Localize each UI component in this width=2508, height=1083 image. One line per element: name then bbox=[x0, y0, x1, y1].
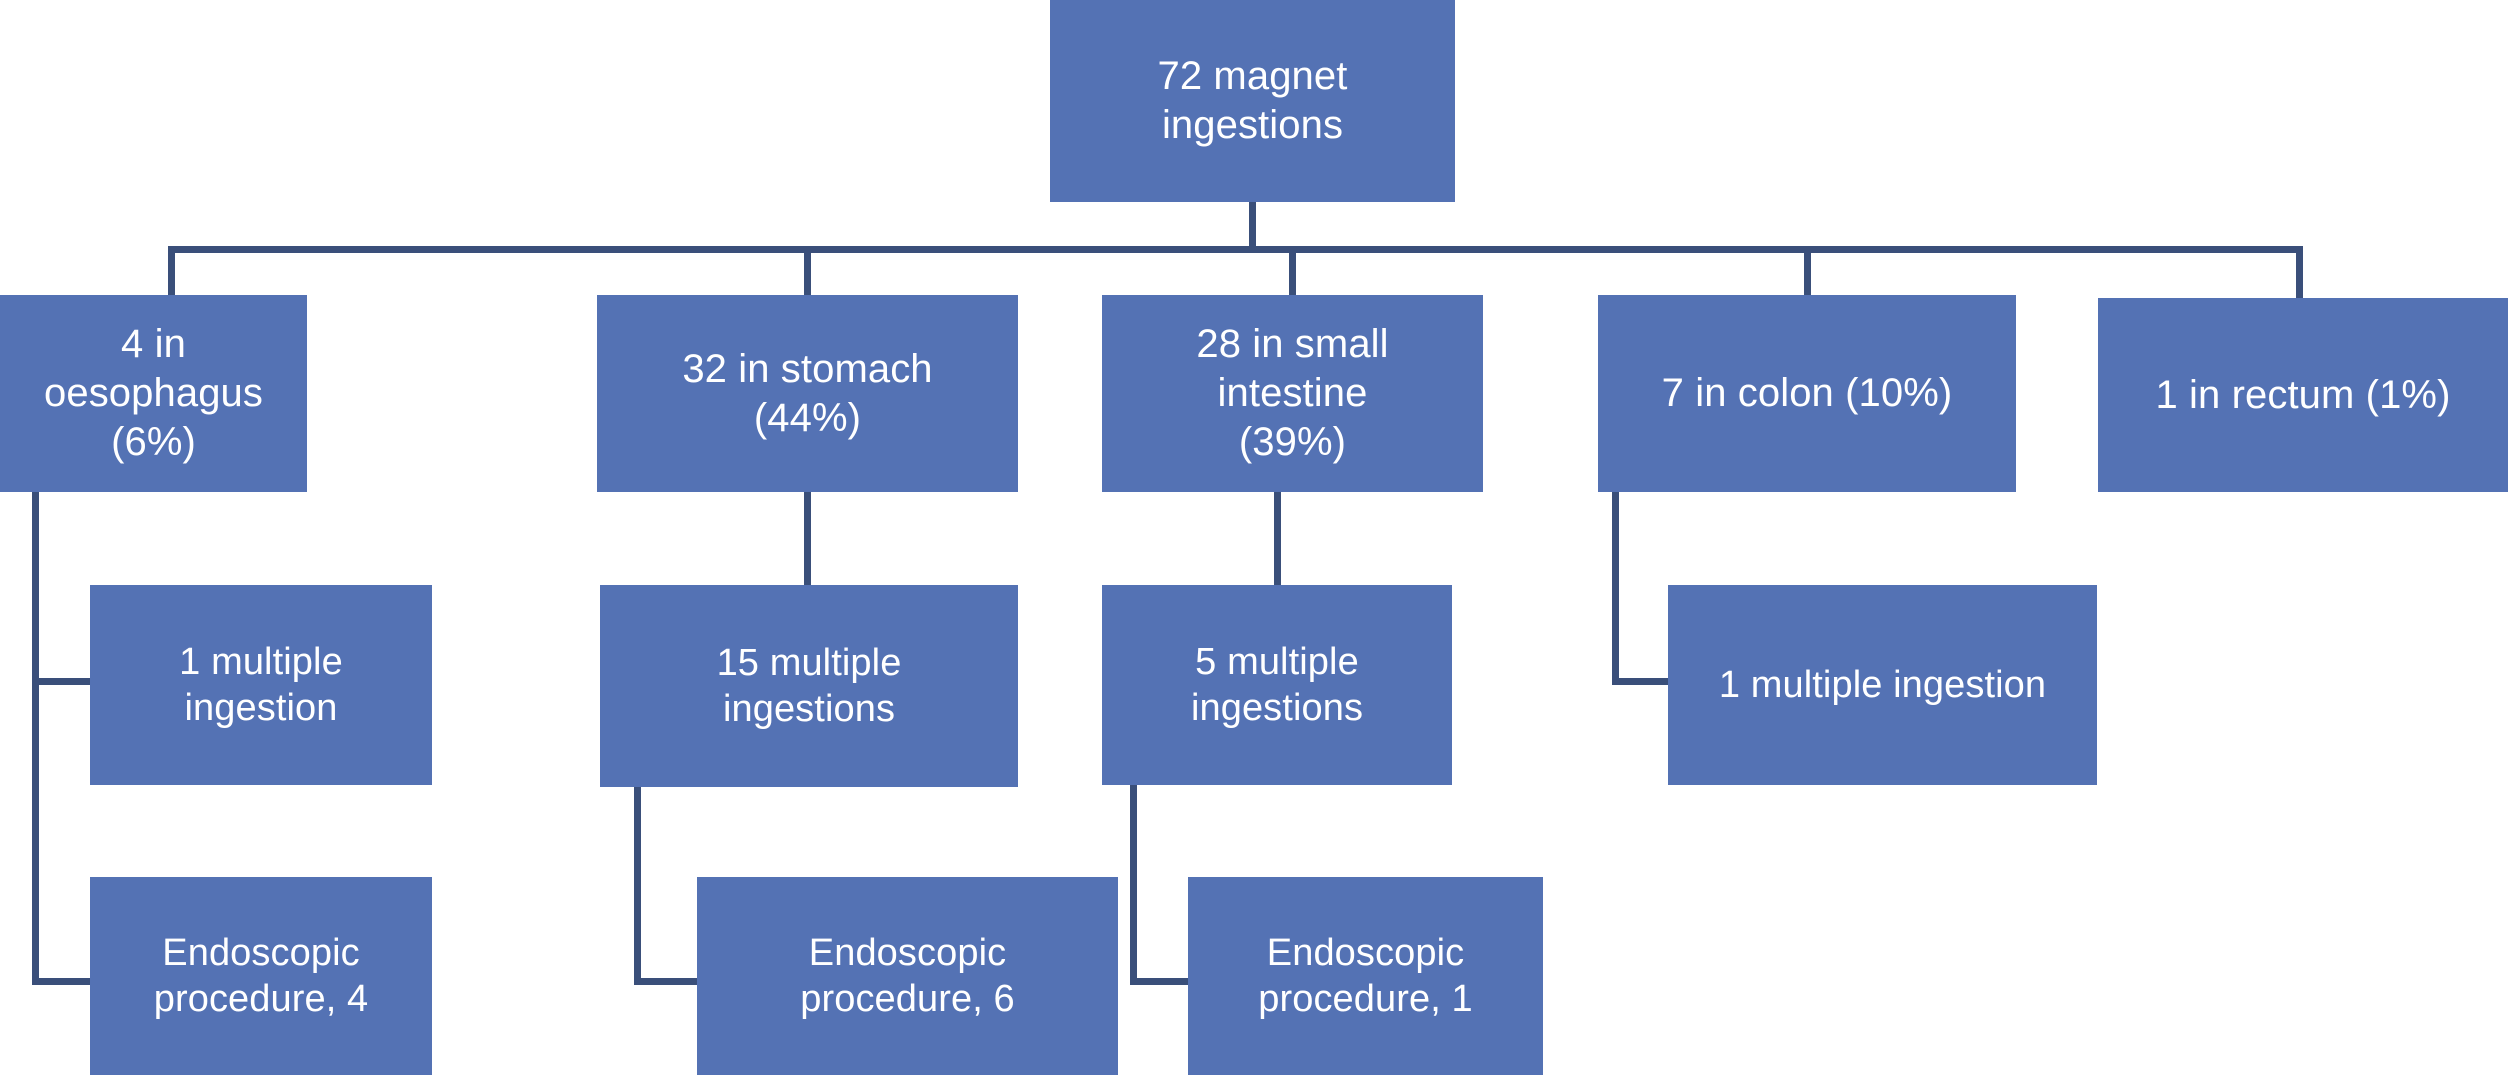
node-stomach[interactable]: 32 in stomach (44%) bbox=[597, 295, 1018, 492]
node-colon-multiple-label: 1 multiple ingestion bbox=[1678, 662, 2087, 708]
connector-small-intestine-to-multiple bbox=[1274, 492, 1281, 587]
node-rectum[interactable]: 1 in rectum (1%) bbox=[2098, 298, 2508, 492]
node-oesophagus-label: 4 in oesophagus (6%) bbox=[10, 320, 297, 466]
node-stomach-label: 32 in stomach (44%) bbox=[607, 345, 1008, 443]
node-small-intestine-multiple-ingestions[interactable]: 5 multiple ingestions bbox=[1102, 585, 1452, 785]
node-stomach-endoscopic-procedure[interactable]: Endoscopic procedure, 6 bbox=[697, 877, 1118, 1075]
node-small-intestine-endoscopic-procedure[interactable]: Endoscopic procedure, 1 bbox=[1188, 877, 1543, 1075]
node-rectum-label: 1 in rectum (1%) bbox=[2108, 371, 2498, 420]
connector-drop-colon bbox=[1804, 246, 1811, 298]
node-colon-label: 7 in colon (10%) bbox=[1608, 369, 2006, 418]
connector-colon-to-multiple bbox=[1612, 678, 1672, 685]
connector-stomach-to-endoscopic bbox=[634, 978, 702, 985]
node-oesophagus[interactable]: 4 in oesophagus (6%) bbox=[0, 295, 307, 492]
node-small-intestine[interactable]: 28 in small intestine (39%) bbox=[1102, 295, 1483, 492]
connector-drop-stomach bbox=[804, 246, 811, 298]
node-oesophagus-endoscopic-label: Endoscopic procedure, 4 bbox=[100, 930, 422, 1023]
node-stomach-multiple-ingestions[interactable]: 15 multiple ingestions bbox=[600, 585, 1018, 787]
node-stomach-multiple-label: 15 multiple ingestions bbox=[610, 640, 1008, 733]
connector-oesophagus-to-multiple bbox=[32, 678, 94, 685]
connector-drop-rectum bbox=[2296, 246, 2303, 301]
connector-small-intestine-to-endoscopic bbox=[1130, 978, 1193, 985]
node-small-intestine-multiple-label: 5 multiple ingestions bbox=[1112, 639, 1442, 732]
node-small-intestine-endoscopic-label: Endoscopic procedure, 1 bbox=[1198, 930, 1533, 1023]
node-root-magnet-ingestions[interactable]: 72 magnet ingestions bbox=[1050, 0, 1455, 202]
node-colon-multiple-ingestion[interactable]: 1 multiple ingestion bbox=[1668, 585, 2097, 785]
node-oesophagus-multiple-label: 1 multiple ingestion bbox=[100, 639, 422, 732]
connector-small-intestine-rail bbox=[1130, 785, 1137, 985]
node-root-label: 72 magnet ingestions bbox=[1060, 52, 1445, 150]
connector-stomach-to-multiple bbox=[804, 492, 811, 587]
connector-root-horizontal-bus bbox=[168, 246, 2303, 253]
node-small-intestine-label: 28 in small intestine (39%) bbox=[1112, 320, 1473, 466]
node-oesophagus-multiple-ingestion[interactable]: 1 multiple ingestion bbox=[90, 585, 432, 785]
node-oesophagus-endoscopic-procedure[interactable]: Endoscopic procedure, 4 bbox=[90, 877, 432, 1075]
flowchart-canvas: 72 magnet ingestions 4 in oesophagus (6%… bbox=[0, 0, 2508, 1083]
connector-colon-rail bbox=[1612, 492, 1619, 685]
node-colon[interactable]: 7 in colon (10%) bbox=[1598, 295, 2016, 492]
connector-stomach-rail bbox=[634, 787, 641, 985]
connector-oesophagus-to-endoscopic bbox=[32, 978, 94, 985]
connector-drop-small-intestine bbox=[1289, 246, 1296, 298]
connector-oesophagus-rail bbox=[32, 492, 39, 985]
connector-root-stub bbox=[1249, 202, 1256, 252]
connector-drop-oesophagus bbox=[168, 246, 175, 298]
node-stomach-endoscopic-label: Endoscopic procedure, 6 bbox=[707, 930, 1108, 1023]
